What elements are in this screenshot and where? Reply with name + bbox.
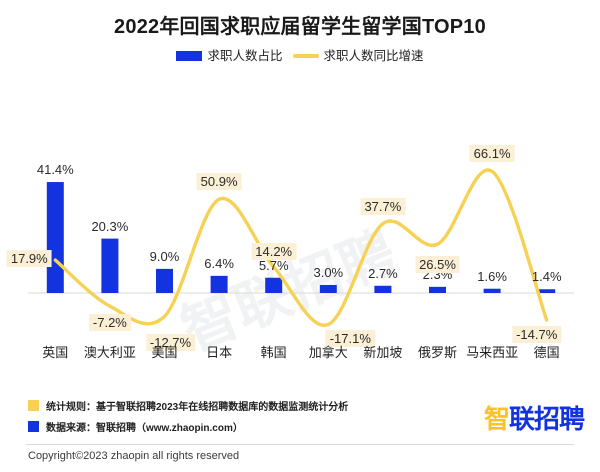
line-value-label: 37.7% bbox=[360, 198, 405, 215]
bar-value-label: 20.3% bbox=[91, 219, 128, 234]
line-value-label: 50.9% bbox=[197, 173, 242, 190]
bar[interactable] bbox=[265, 278, 282, 293]
page-title: 2022年回国求职应届留学生留学国TOP10 bbox=[0, 10, 600, 39]
legend-bar-swatch-icon bbox=[176, 51, 202, 61]
bar[interactable] bbox=[156, 269, 173, 293]
note-text: 数据来源：智联招聘（www.zhaopin.com） bbox=[46, 419, 243, 434]
legend-item-label: 求职人数占比 bbox=[207, 50, 282, 63]
footer: 统计规则：基于智联招聘2023年在线招聘数据库的数据监测统计分析 数据来源：智联… bbox=[0, 390, 600, 472]
legend-item-bar[interactable]: 求职人数占比 bbox=[176, 50, 282, 63]
bar[interactable] bbox=[320, 285, 337, 293]
bar-value-label: 3.0% bbox=[313, 265, 343, 280]
brand-logo: 智联招聘 bbox=[484, 399, 584, 436]
brand-logo-accent: 智 bbox=[484, 404, 509, 434]
note-text: 统计规则：基于智联招聘2023年在线招聘数据库的数据监测统计分析 bbox=[46, 398, 348, 413]
line-value-label: 66.1% bbox=[470, 145, 515, 162]
plot-area: 智联招聘 41.4%20.3%9.0%6.4%5.7%3.0%2.7%2.3%1… bbox=[0, 72, 600, 367]
line-value-label: 17.9% bbox=[7, 250, 52, 267]
chart-page: 2022年回国求职应届留学生留学国TOP10 求职人数占比 求职人数同比增速 智… bbox=[0, 0, 600, 472]
category-label[interactable]: 俄罗斯 bbox=[418, 342, 457, 361]
bar-value-label: 9.0% bbox=[150, 249, 180, 264]
bar-value-label: 1.4% bbox=[532, 269, 562, 284]
brand-logo-rest: 联招聘 bbox=[509, 404, 584, 434]
line-series bbox=[55, 170, 546, 325]
footer-notes: 统计规则：基于智联招聘2023年在线招聘数据库的数据监测统计分析 数据来源：智联… bbox=[28, 398, 348, 440]
category-label[interactable]: 英国 bbox=[42, 342, 68, 361]
legend-item-label: 求职人数同比增速 bbox=[324, 50, 424, 63]
bar-value-label: 41.4% bbox=[37, 162, 74, 177]
line-value-label: -14.7% bbox=[512, 326, 561, 343]
note-marker-icon bbox=[28, 400, 39, 411]
category-label[interactable]: 美国 bbox=[151, 342, 177, 361]
bar-value-label: 2.7% bbox=[368, 266, 398, 281]
bar[interactable] bbox=[429, 287, 446, 293]
footer-divider bbox=[26, 444, 574, 445]
bar-value-label: 1.6% bbox=[477, 269, 507, 284]
legend-item-line[interactable]: 求职人数同比增速 bbox=[293, 50, 424, 63]
line-value-label: -7.2% bbox=[89, 314, 131, 331]
chart-legend: 求职人数占比 求职人数同比增速 bbox=[0, 50, 600, 63]
category-label[interactable]: 加拿大 bbox=[309, 342, 348, 361]
bar[interactable] bbox=[211, 276, 228, 293]
category-label[interactable]: 马来西亚 bbox=[466, 342, 518, 361]
note-row-rule: 统计规则：基于智联招聘2023年在线招聘数据库的数据监测统计分析 bbox=[28, 398, 348, 413]
line-value-label: 14.2% bbox=[251, 243, 296, 260]
line-value-label: 26.5% bbox=[415, 256, 460, 273]
note-row-source: 数据来源：智联招聘（www.zhaopin.com） bbox=[28, 419, 348, 434]
note-marker-icon bbox=[28, 421, 39, 432]
category-label[interactable]: 澳大利亚 bbox=[84, 342, 136, 361]
category-label[interactable]: 新加坡 bbox=[363, 342, 402, 361]
legend-line-swatch-icon bbox=[293, 54, 319, 58]
copyright-text: Copyright©2023 zhaopin all rights reserv… bbox=[28, 450, 239, 462]
bar[interactable] bbox=[101, 239, 118, 293]
category-label[interactable]: 日本 bbox=[206, 342, 232, 361]
bar[interactable] bbox=[484, 289, 501, 293]
bar-value-label: 5.7% bbox=[259, 258, 289, 273]
bar[interactable] bbox=[374, 286, 391, 293]
category-label[interactable]: 韩国 bbox=[261, 342, 287, 361]
bar[interactable] bbox=[47, 182, 64, 293]
bar[interactable] bbox=[538, 289, 555, 293]
bar-value-label: 6.4% bbox=[204, 256, 234, 271]
category-label[interactable]: 德国 bbox=[534, 342, 560, 361]
